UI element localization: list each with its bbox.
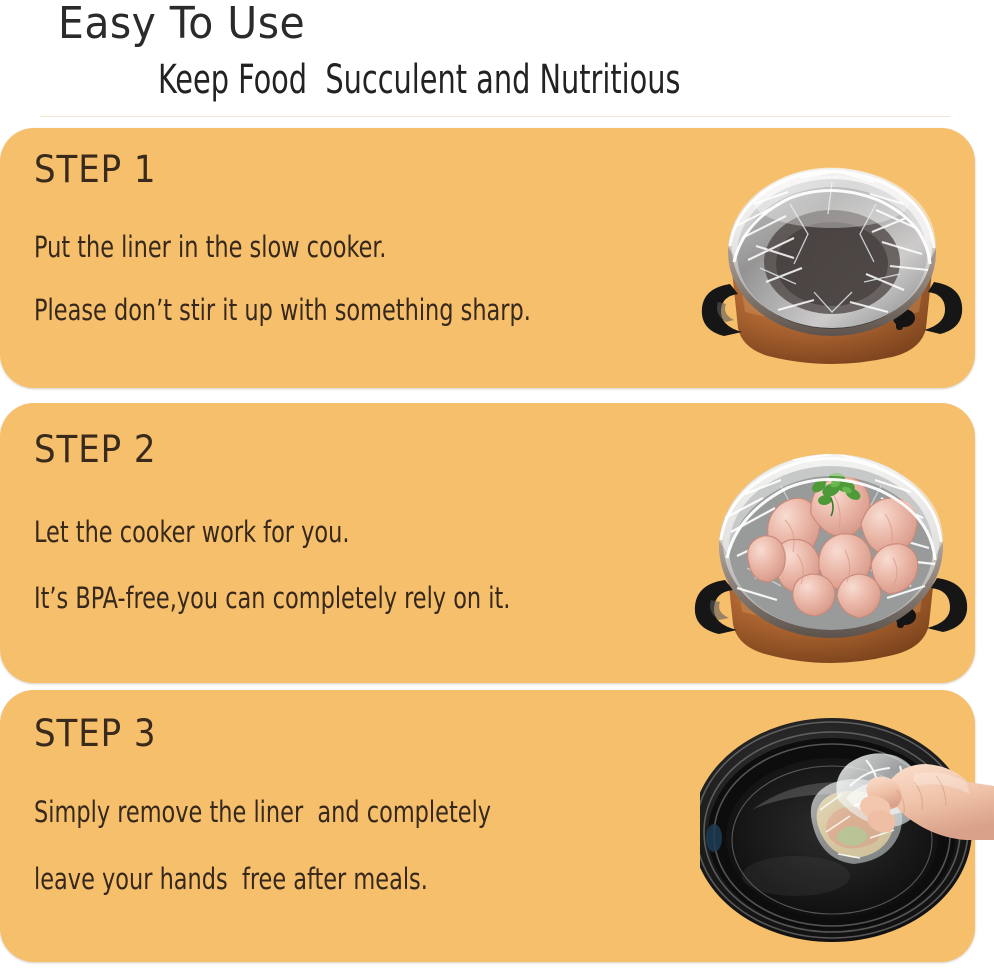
step-3-label: STEP 3 — [34, 712, 156, 755]
heading-divider — [40, 116, 950, 117]
heading-block: Easy To Use Keep Food Succulent and Nutr… — [0, 0, 994, 120]
step-2-label: STEP 2 — [34, 428, 156, 471]
page-subtitle: Keep Food Succulent and Nutritious — [158, 57, 681, 103]
step-1-label: STEP 1 — [34, 148, 156, 191]
step-3-line-1: Simply remove the liner and completely — [34, 795, 491, 829]
hand-removing-used-liner-image — [700, 690, 994, 962]
page-title: Easy To Use — [58, 0, 305, 49]
step-2-line-2: It’s BPA-free,you can completely rely on… — [34, 581, 510, 615]
step-1-line-1: Put the liner in the slow cooker. — [34, 230, 386, 264]
slow-cooker-with-empty-liner-image — [690, 142, 975, 388]
slow-cooker-with-raw-chicken-image — [685, 428, 975, 683]
step-1-line-2: Please don’t stir it up with something s… — [34, 293, 531, 327]
step-3-line-2: leave your hands free after meals. — [34, 862, 428, 896]
step-2-line-1: Let the cooker work for you. — [34, 515, 349, 549]
